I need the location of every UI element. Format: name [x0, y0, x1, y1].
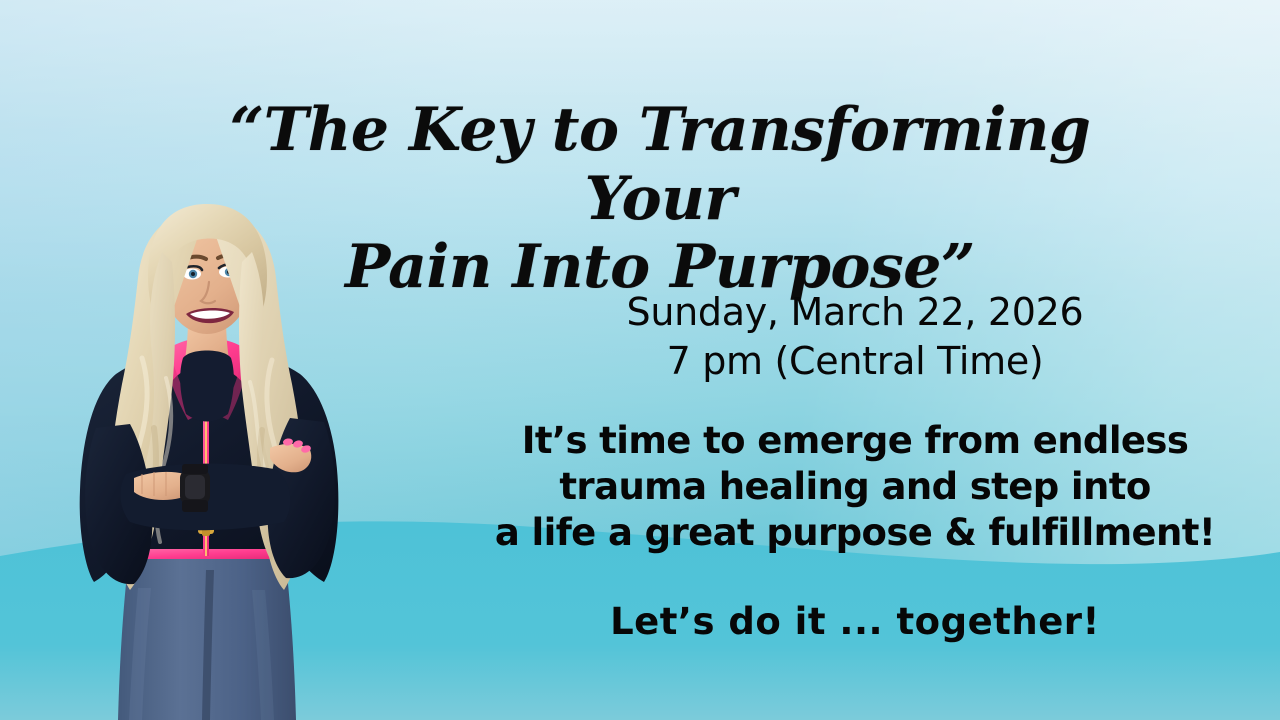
event-details: Sunday, March 22, 2026 7 pm (Central Tim… [500, 288, 1210, 385]
body-line-3: a life a great purpose & fulfillment! [480, 510, 1230, 556]
event-date: Sunday, March 22, 2026 [500, 288, 1210, 337]
promo-slide: “The Key to Transforming Your Pain Into … [0, 0, 1280, 720]
closing-call-to-action: Let’s do it ... together! [500, 600, 1210, 644]
presenter-jeans [118, 546, 296, 720]
event-time: 7 pm (Central Time) [500, 337, 1210, 386]
closing-line: Let’s do it ... together! [500, 600, 1210, 644]
body-copy: It’s time to emerge from endless trauma … [480, 418, 1230, 556]
page-title: “The Key to Transforming Your Pain Into … [160, 96, 1160, 301]
body-line-2: trauma healing and step into [480, 464, 1230, 510]
presenter-smartwatch [180, 464, 210, 512]
body-line-1: It’s time to emerge from endless [480, 418, 1230, 464]
